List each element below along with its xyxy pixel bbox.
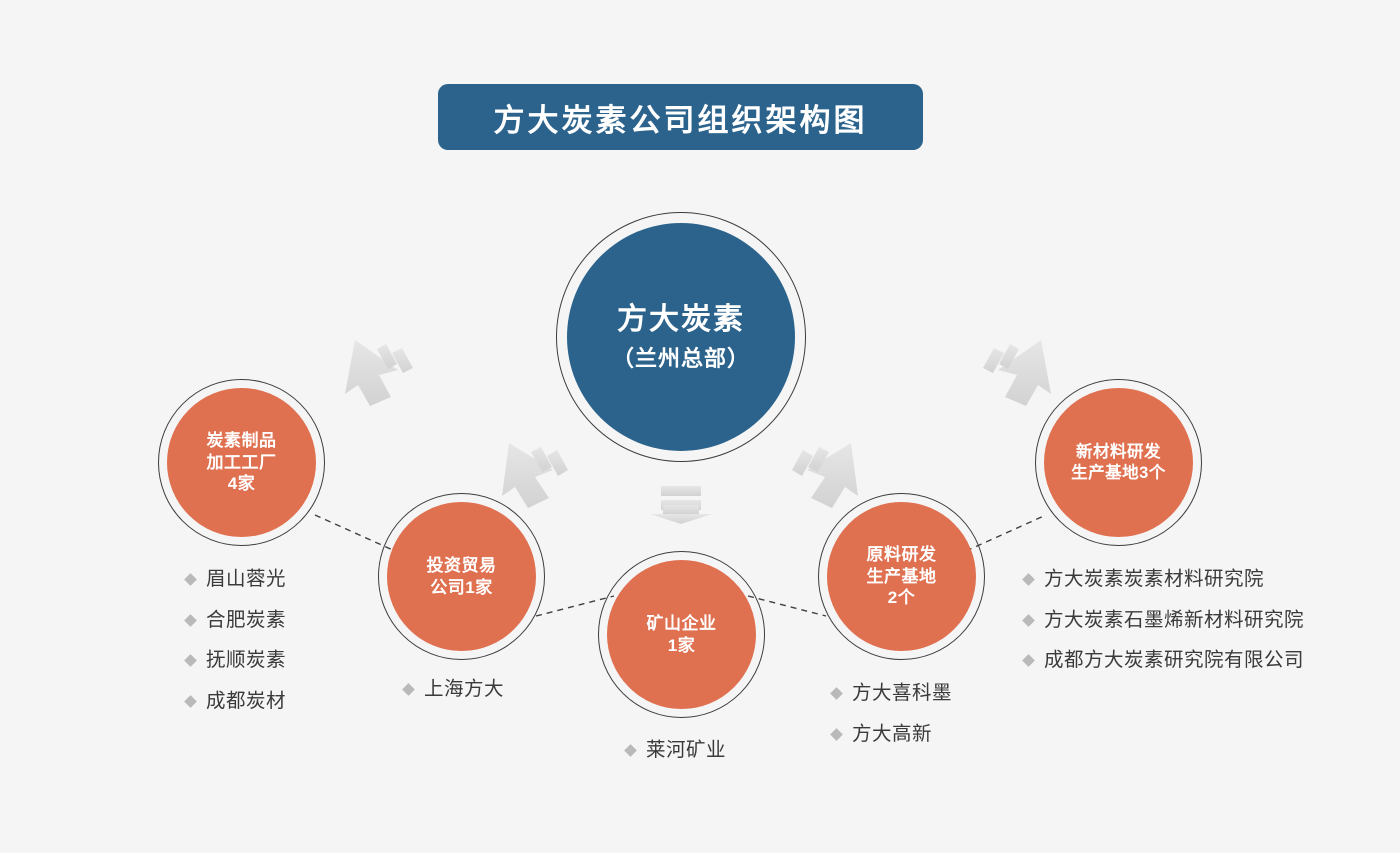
node-raw-material-rd-disc[interactable]: 原料研发 生产基地 2个 (827, 502, 976, 651)
list-item[interactable]: 莱河矿业 (626, 741, 726, 761)
org-chart-canvas: 方大炭素公司组织架构图 (0, 0, 1400, 853)
list-item[interactable]: 方大炭素石墨烯新材料研究院 (1024, 611, 1304, 631)
node-new-material-rd-disc[interactable]: 新材料研发 生产基地3个 (1044, 388, 1193, 537)
list-item-label: 成都炭材 (206, 692, 286, 712)
list-item-label: 合肥炭素 (206, 611, 286, 631)
diamond-bullet-icon (184, 654, 197, 667)
node-mining[interactable]: 矿山企业 1家 (598, 551, 765, 718)
node-mining-disc[interactable]: 矿山企业 1家 (607, 560, 756, 709)
list-item-label: 上海方大 (424, 680, 504, 700)
arrow-down-icon (650, 486, 712, 524)
node-label-line: 加工工厂 (207, 452, 277, 473)
node-label-line: 矿山企业 (647, 613, 717, 634)
node-label-line: 生产基地 (867, 566, 937, 587)
node-label-line: 新材料研发 (1076, 442, 1161, 463)
node-label-line: 生产基地3个 (1071, 463, 1166, 484)
diamond-bullet-icon (402, 683, 415, 696)
list-item[interactable]: 合肥炭素 (186, 611, 286, 631)
node-raw-material-rd[interactable]: 原料研发 生产基地 2个 (818, 493, 985, 660)
list-carbon-products: 眉山蓉光 合肥炭素 抚顺炭素 成都炭材 (186, 570, 286, 732)
list-item-label: 莱河矿业 (646, 741, 726, 761)
node-label-line: 原料研发 (867, 544, 937, 565)
list-item[interactable]: 成都方大炭素研究院有限公司 (1024, 651, 1304, 671)
list-raw-material-rd: 方大喜科墨 方大高新 (832, 684, 952, 765)
list-item[interactable]: 方大炭素炭素材料研究院 (1024, 570, 1304, 590)
node-center[interactable]: 方大炭素 （兰州总部） (556, 212, 806, 462)
diamond-bullet-icon (830, 728, 843, 741)
node-label-line: 投资贸易 (427, 555, 497, 576)
list-item-label: 方大喜科墨 (852, 684, 952, 704)
list-item[interactable]: 眉山蓉光 (186, 570, 286, 590)
list-item-label: 成都方大炭素研究院有限公司 (1044, 651, 1304, 671)
list-item-label: 方大炭素石墨烯新材料研究院 (1044, 611, 1304, 631)
list-item[interactable]: 抚顺炭素 (186, 651, 286, 671)
diamond-bullet-icon (1022, 573, 1035, 586)
node-carbon-products-disc[interactable]: 炭素制品 加工工厂 4家 (167, 388, 316, 537)
list-item[interactable]: 成都炭材 (186, 692, 286, 712)
list-mining: 莱河矿业 (626, 741, 726, 782)
list-new-material-rd: 方大炭素炭素材料研究院 方大炭素石墨烯新材料研究院 成都方大炭素研究院有限公司 (1024, 570, 1304, 692)
list-item-label: 抚顺炭素 (206, 651, 286, 671)
list-item-label: 眉山蓉光 (206, 570, 286, 590)
diamond-bullet-icon (184, 695, 197, 708)
diamond-bullet-icon (1022, 654, 1035, 667)
node-label-line: 公司1家 (430, 577, 492, 598)
node-center-title: 方大炭素 (617, 301, 745, 339)
diamond-bullet-icon (1022, 614, 1035, 627)
node-label-line: 4家 (228, 473, 255, 494)
node-carbon-products[interactable]: 炭素制品 加工工厂 4家 (158, 379, 325, 546)
list-item[interactable]: 方大喜科墨 (832, 684, 952, 704)
diamond-bullet-icon (624, 744, 637, 757)
list-item[interactable]: 上海方大 (404, 680, 504, 700)
node-investment-trade-disc[interactable]: 投资贸易 公司1家 (387, 502, 536, 651)
diamond-bullet-icon (184, 614, 197, 627)
arrow-up-right-icon (983, 340, 1051, 406)
diamond-bullet-icon (184, 573, 197, 586)
node-label-line: 炭素制品 (207, 430, 277, 451)
node-investment-trade[interactable]: 投资贸易 公司1家 (378, 493, 545, 660)
node-center-subtitle: （兰州总部） (612, 345, 750, 373)
list-item[interactable]: 方大高新 (832, 725, 952, 745)
node-label-line: 2个 (888, 587, 915, 608)
node-center-disc[interactable]: 方大炭素 （兰州总部） (567, 223, 795, 451)
diamond-bullet-icon (830, 687, 843, 700)
node-label-line: 1家 (668, 635, 695, 656)
arrow-up-left-icon (345, 340, 413, 406)
arrow-down-left-icon (502, 443, 568, 508)
node-new-material-rd[interactable]: 新材料研发 生产基地3个 (1035, 379, 1202, 546)
list-investment-trade: 上海方大 (404, 680, 504, 721)
arrow-down-right-icon (792, 443, 858, 508)
list-item-label: 方大炭素炭素材料研究院 (1044, 570, 1264, 590)
list-item-label: 方大高新 (852, 725, 932, 745)
